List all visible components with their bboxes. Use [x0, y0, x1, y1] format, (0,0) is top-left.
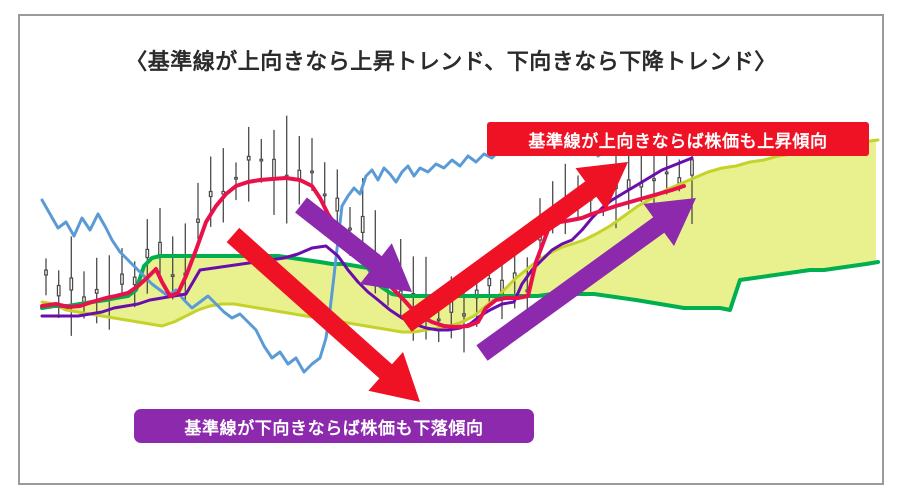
- callout-uptrend: 基準線が上向きならば株価も上昇傾向: [487, 122, 869, 156]
- figure-root: 〈基準線が上向きなら上昇トレンド、下向きなら下降トレンド〉: [0, 0, 902, 500]
- ichimoku-cloud: [42, 140, 876, 332]
- page-title: 〈基準線が上向きなら上昇トレンド、下向きなら下降トレンド〉: [0, 44, 902, 76]
- chikou-span-line: [42, 140, 604, 372]
- callout-downtrend: 基準線が下向きならば株価も下落傾向: [134, 409, 534, 443]
